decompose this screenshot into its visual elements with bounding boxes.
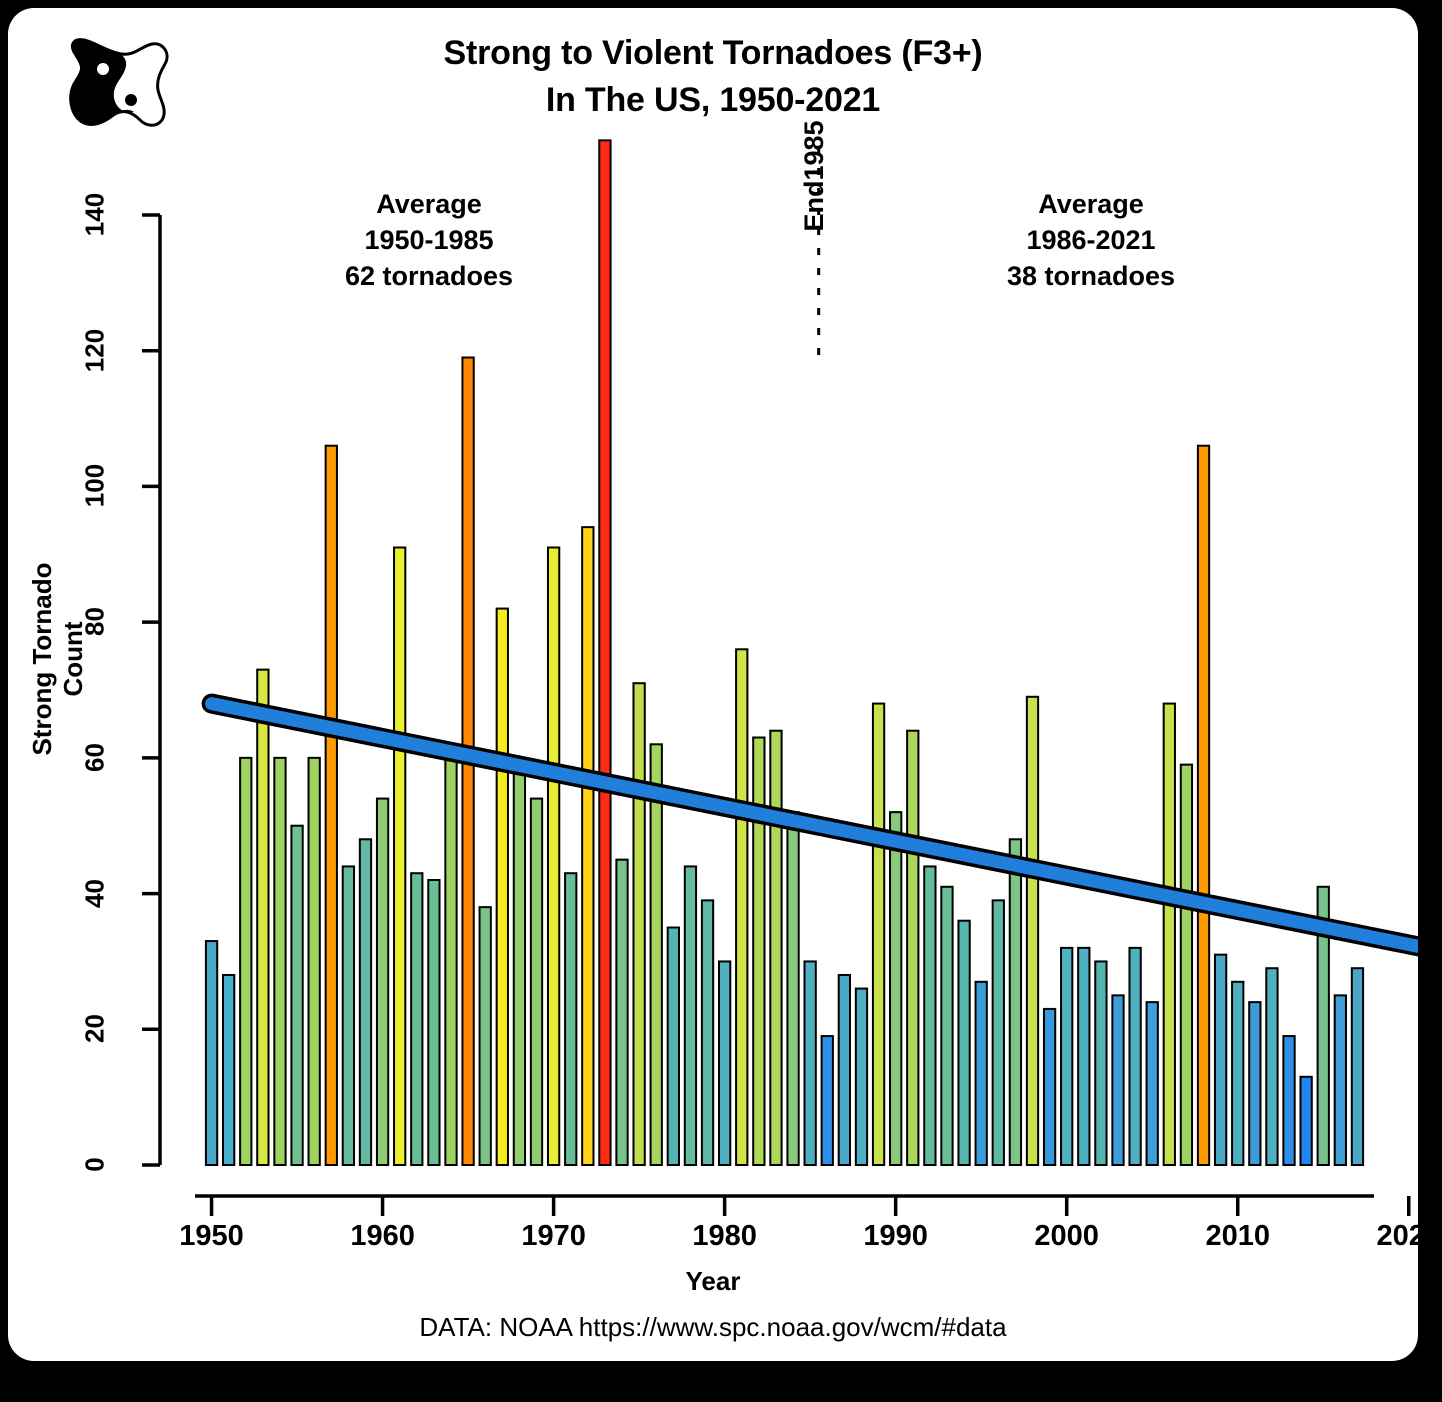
bar-2004 [1129, 948, 1140, 1165]
x-tick-label-2020: 2020 [1354, 1220, 1442, 1253]
bar-1994 [958, 921, 969, 1165]
bar-1997 [1010, 839, 1021, 1165]
bar-2007 [1181, 765, 1192, 1165]
bar-1967 [497, 609, 508, 1165]
x-axis-title: Year [8, 1266, 1418, 1297]
bar-2002 [1095, 961, 1106, 1165]
y-tick-label-140: 140 [80, 180, 111, 250]
x-tick-label-1950: 1950 [157, 1220, 267, 1253]
bar-1969 [531, 799, 542, 1165]
bar-2003 [1112, 995, 1123, 1165]
bar-2010 [1232, 982, 1243, 1165]
bar-1984 [787, 812, 798, 1165]
bar-1983 [770, 731, 781, 1165]
bar-1992 [924, 866, 935, 1165]
bar-1962 [411, 873, 422, 1165]
x-tick-label-2000: 2000 [1012, 1220, 1122, 1253]
bar-1950 [206, 941, 217, 1165]
y-tick-label-100: 100 [80, 451, 111, 521]
bar-2014 [1301, 1077, 1312, 1165]
chart-plot-area: Average 1950-1985 62 tornadoes Average 1… [8, 8, 1418, 1361]
bar-2005 [1147, 1002, 1158, 1165]
bar-1958 [343, 866, 354, 1165]
bar-1995 [976, 982, 987, 1165]
bar-1953 [257, 670, 268, 1165]
bar-1996 [993, 900, 1004, 1165]
y-tick-label-20: 20 [80, 994, 111, 1064]
bar-1991 [907, 731, 918, 1165]
bar-1966 [480, 907, 491, 1165]
bar-1954 [274, 758, 285, 1165]
bar-1999 [1044, 1009, 1055, 1165]
bar-1979 [702, 900, 713, 1165]
bar-1986 [822, 1036, 833, 1165]
bar-1972 [582, 527, 593, 1165]
bar-2012 [1266, 968, 1277, 1165]
y-tick-label-0: 0 [80, 1130, 111, 1200]
bar-1988 [856, 989, 867, 1165]
trend-line-inner [212, 704, 1418, 948]
bar-1989 [873, 704, 884, 1165]
bar-1993 [941, 887, 952, 1165]
x-tick-label-1970: 1970 [499, 1220, 609, 1253]
y-tick-label-40: 40 [80, 858, 111, 928]
y-tick-label-80: 80 [80, 587, 111, 657]
bar-1977 [668, 928, 679, 1166]
bar-1960 [377, 799, 388, 1165]
bar-1987 [839, 975, 850, 1165]
bar-2013 [1283, 1036, 1294, 1165]
bar-1976 [651, 744, 662, 1165]
x-tick-label-2010: 2010 [1183, 1220, 1293, 1253]
x-tick-label-1990: 1990 [841, 1220, 951, 1253]
bar-1963 [428, 880, 439, 1165]
bar-1975 [633, 683, 644, 1165]
bar-1981 [736, 649, 747, 1165]
bar-1956 [309, 758, 320, 1165]
bar-1968 [514, 771, 525, 1165]
bar-1970 [548, 548, 559, 1166]
bar-2011 [1249, 1002, 1260, 1165]
y-tick-label-120: 120 [80, 315, 111, 385]
bar-1964 [445, 758, 456, 1165]
bar-1951 [223, 975, 234, 1165]
annotation-average-1950-1985: Average 1950-1985 62 tornadoes [254, 186, 604, 295]
bar-1990 [890, 812, 901, 1165]
bar-1998 [1027, 697, 1038, 1165]
bar-2008 [1198, 446, 1209, 1165]
trend-line [212, 704, 1418, 948]
annotation-average-1986-2021: Average 1986-2021 38 tornadoes [916, 186, 1266, 295]
bar-1957 [326, 446, 337, 1165]
bar-1959 [360, 839, 371, 1165]
x-tick-label-1980: 1980 [670, 1220, 780, 1253]
end1985-label: End1985 [799, 71, 839, 281]
bar-2017 [1352, 968, 1363, 1165]
bar-1980 [719, 961, 730, 1165]
bar-1971 [565, 873, 576, 1165]
bar-1974 [616, 860, 627, 1165]
bar-1978 [685, 866, 696, 1165]
bar-2009 [1215, 955, 1226, 1165]
bar-2006 [1164, 704, 1175, 1165]
bar-1961 [394, 548, 405, 1166]
bar-1955 [291, 826, 302, 1165]
bar-2016 [1335, 995, 1346, 1165]
bar-2001 [1078, 948, 1089, 1165]
bar-2000 [1061, 948, 1072, 1165]
x-tick-label-1960: 1960 [328, 1220, 438, 1253]
y-tick-label-60: 60 [80, 722, 111, 792]
bar-1982 [753, 738, 764, 1166]
bar-1952 [240, 758, 251, 1165]
screenshot-frame: Strong to Violent Tornadoes (F3+) In The… [0, 0, 1442, 1402]
bar-1985 [805, 961, 816, 1165]
chart-card: Strong to Violent Tornadoes (F3+) In The… [8, 8, 1418, 1361]
source-caption: DATA: NOAA https://www.spc.noaa.gov/wcm/… [8, 1312, 1418, 1343]
